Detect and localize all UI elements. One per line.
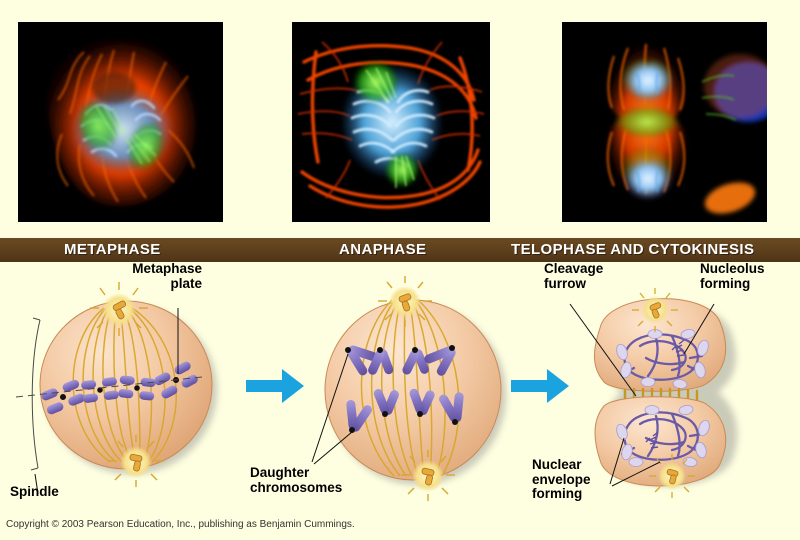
metaphase-micrograph [18, 22, 223, 222]
metaphase-diagram [16, 282, 217, 494]
spindle-bracket [31, 318, 40, 470]
arrow-anaphase-to-telophase [511, 369, 569, 403]
figure-canvas: METAPHASE ANAPHASE TELOPHASE AND CYTOKIN… [0, 0, 800, 540]
banner-label-anaphase: ANAPHASE [339, 241, 426, 258]
label-spindle: Spindle [10, 485, 120, 500]
arrow-metaphase-to-anaphase [246, 369, 304, 403]
label-daughter-chromosomes: Daughter chromosomes [250, 466, 400, 495]
copyright-notice: Copyright © 2003 Pearson Education, Inc.… [6, 519, 355, 530]
banner-label-metaphase: METAPHASE [64, 241, 161, 258]
banner-label-telophase: TELOPHASE AND CYTOKINESIS [511, 241, 754, 258]
diagram-row: Metaphase plate Spindle Daughter chromos… [0, 262, 800, 517]
label-nuclear-envelope-forming: Nuclear envelope forming [532, 458, 642, 502]
label-nucleolus-forming: Nucleolus forming [700, 262, 800, 291]
micrograph-row [0, 0, 800, 238]
anaphase-micrograph [292, 22, 490, 222]
stage-banner: METAPHASE ANAPHASE TELOPHASE AND CYTOKIN… [0, 238, 800, 262]
daughter-cell-upper [594, 288, 725, 391]
telophase-micrograph [562, 22, 767, 222]
label-metaphase-plate: Metaphase plate [106, 262, 202, 291]
label-cleavage-furrow: Cleavage furrow [544, 262, 654, 291]
